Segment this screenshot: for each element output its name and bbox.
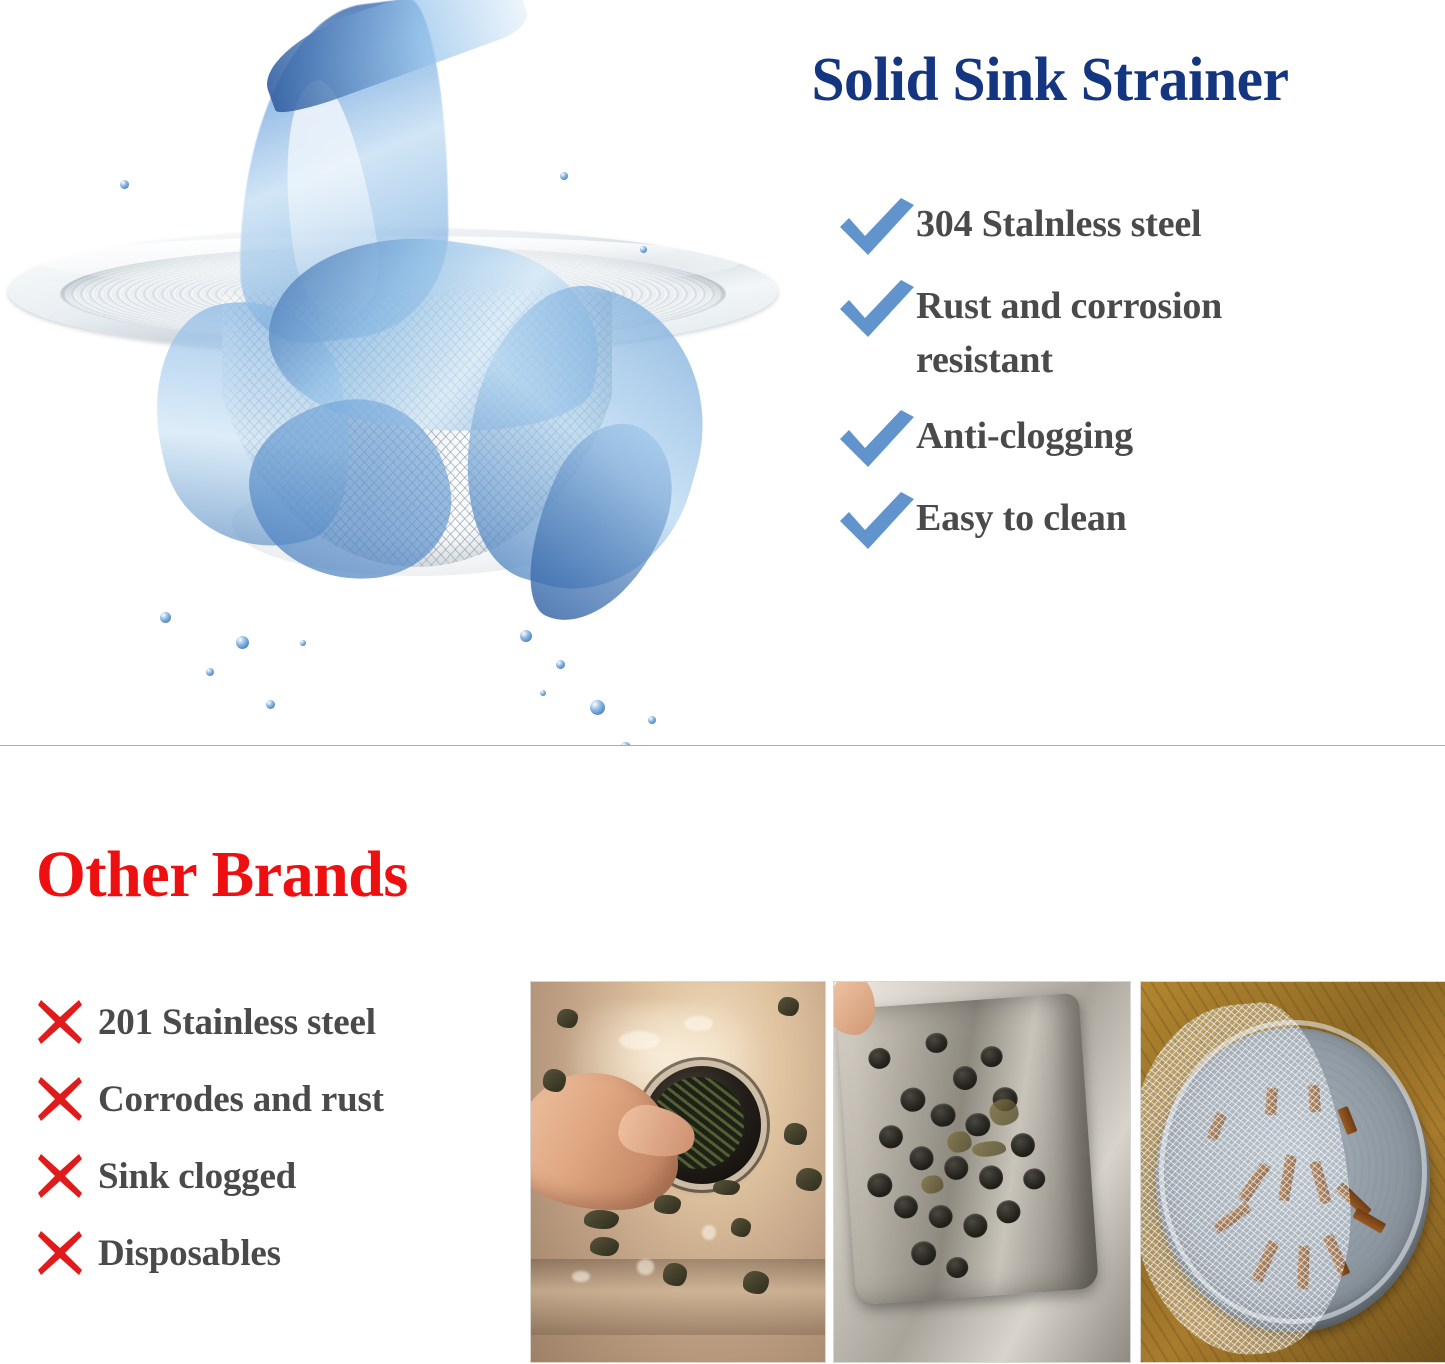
- basket-hole: [900, 1087, 926, 1112]
- water-droplet: [160, 612, 171, 623]
- food-scrap: [796, 1168, 822, 1191]
- food-scrap: [743, 1271, 769, 1294]
- water-spot: [637, 1259, 655, 1274]
- feature-item-stainless: 304 Stalnless steel: [838, 196, 1418, 258]
- water-droplet: [236, 636, 249, 649]
- grime-spot: [947, 1131, 973, 1153]
- food-scrap: [543, 1069, 567, 1092]
- food-scrap: [778, 997, 799, 1016]
- drawback-item-corrodes: Corrodes and rust: [34, 1061, 524, 1138]
- food-scrap: [663, 1263, 687, 1286]
- x-icon: [34, 1227, 98, 1281]
- check-icon: [838, 196, 916, 258]
- basket-hole: [978, 1165, 1004, 1190]
- other-brands-title: Other Brands: [36, 842, 408, 908]
- food-scrap: [713, 1180, 739, 1195]
- drawback-label: Disposables: [98, 1232, 524, 1275]
- grime-spot: [972, 1141, 1007, 1158]
- water-droplet: [640, 246, 647, 253]
- food-scrap: [731, 1218, 752, 1237]
- water-droplet: [300, 640, 306, 646]
- product-hero-image: [0, 0, 700, 830]
- basket-hole: [909, 1146, 935, 1171]
- other-brands-section: Other Brands 201 Stainless steel Corrode…: [0, 746, 1445, 1364]
- photo-clogged-sink-drain: [530, 981, 826, 1363]
- basket-hole: [867, 1172, 893, 1197]
- drawback-item-201-steel: 201 Stainless steel: [34, 984, 524, 1061]
- feature-list: 304 Stalnless steel Rust and corrosion r…: [838, 196, 1418, 572]
- basket-hole: [962, 1213, 988, 1238]
- feature-label: Anti-clogging: [916, 408, 1418, 464]
- water-droplet: [648, 716, 656, 724]
- basket-hole: [946, 1256, 969, 1278]
- infographic-page: Solid Sink Strainer 304 Stalnless steel: [0, 0, 1445, 1364]
- drawback-label: 201 Stainless steel: [98, 1001, 524, 1044]
- water-droplet: [556, 660, 565, 669]
- basket-hole: [1022, 1168, 1045, 1190]
- basket-hole: [995, 1199, 1021, 1224]
- food-scrap: [654, 1195, 680, 1214]
- thumb: [833, 981, 875, 1035]
- water-droplet: [590, 700, 605, 715]
- feature-item-rust-resistant: Rust and corrosion resistant: [838, 278, 1418, 388]
- water-droplet: [560, 172, 568, 180]
- feature-item-easy-clean: Easy to clean: [838, 490, 1418, 552]
- basket-hole: [943, 1155, 969, 1180]
- x-icon: [34, 996, 98, 1050]
- feature-item-anti-clogging: Anti-clogging: [838, 408, 1418, 470]
- strainer-rim-highlight: [40, 236, 740, 288]
- water-droplet: [520, 630, 532, 642]
- feature-label: Easy to clean: [916, 490, 1418, 546]
- photo-disposable-net-strainer: [1140, 981, 1445, 1363]
- basket-hole: [878, 1124, 904, 1149]
- grime-spot: [920, 1175, 943, 1194]
- drawback-list: 201 Stainless steel Corrodes and rust Si…: [34, 984, 524, 1292]
- water-droplet: [266, 700, 275, 709]
- water-spot: [572, 1271, 590, 1282]
- water-droplet: [120, 180, 129, 189]
- check-icon: [838, 408, 916, 470]
- food-scrap: [584, 1210, 619, 1229]
- drawback-label: Sink clogged: [98, 1155, 524, 1198]
- feature-label-line1: Rust and corrosion: [916, 285, 1222, 327]
- x-icon: [34, 1150, 98, 1204]
- basket-hole: [893, 1194, 919, 1219]
- drawback-label: Corrodes and rust: [98, 1078, 524, 1121]
- check-icon: [838, 490, 916, 552]
- perforated-basket: [836, 993, 1099, 1306]
- drawback-item-sink-clogged: Sink clogged: [34, 1138, 524, 1215]
- basket-hole: [927, 1204, 953, 1229]
- grime-spot: [988, 1098, 1019, 1127]
- basket-hole: [910, 1241, 936, 1266]
- basket-hole: [1010, 1133, 1036, 1158]
- x-icon: [34, 1073, 98, 1127]
- product-highlight-section: Solid Sink Strainer 304 Stalnless steel: [0, 0, 1445, 746]
- food-scrap: [557, 1009, 578, 1028]
- food-scrap: [784, 1123, 808, 1146]
- feature-label: 304 Stalnless steel: [916, 196, 1418, 252]
- drawback-item-disposables: Disposables: [34, 1215, 524, 1292]
- photo-dirty-perforated-basket: [833, 981, 1131, 1363]
- feature-label-line1: Easy to clean: [916, 497, 1127, 539]
- water-droplet: [206, 668, 214, 676]
- feature-label-line1: 304 Stalnless steel: [916, 203, 1201, 245]
- water-droplet: [540, 690, 546, 696]
- basket-hole: [952, 1065, 978, 1090]
- feature-label-line2: resistant: [916, 334, 1418, 388]
- check-icon: [838, 278, 916, 340]
- basket-hole: [930, 1103, 956, 1128]
- feature-label-line1: Anti-clogging: [916, 415, 1133, 457]
- water-splash-tip: [253, 0, 532, 120]
- basket-hole: [980, 1046, 1003, 1068]
- basket-hole: [868, 1048, 891, 1070]
- page-title: Solid Sink Strainer: [704, 48, 1395, 113]
- basket-hole: [925, 1032, 948, 1054]
- strainer-basket-shadow: [232, 470, 602, 576]
- food-scrap: [590, 1237, 619, 1256]
- feature-label: Rust and corrosion resistant: [916, 278, 1418, 388]
